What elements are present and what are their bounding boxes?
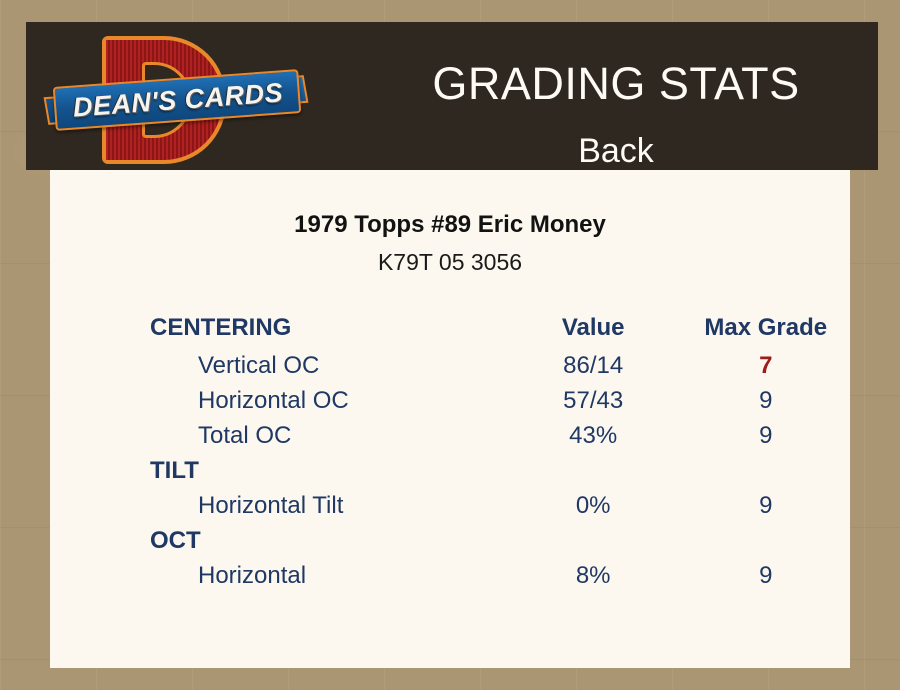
- column-header-category: CENTERING: [150, 310, 505, 348]
- stat-value: 8%: [505, 558, 682, 593]
- table-row: Total OC43%9: [150, 418, 850, 453]
- stat-label: Vertical OC: [150, 348, 505, 383]
- stat-label: Horizontal: [150, 558, 505, 593]
- stat-value: 86/14: [505, 348, 682, 383]
- stat-value: 57/43: [505, 383, 682, 418]
- stat-value: 0%: [505, 488, 682, 523]
- stat-label: Total OC: [150, 418, 505, 453]
- flagged-grade: 7: [759, 352, 772, 379]
- stat-max-grade: 9: [682, 383, 850, 418]
- table-row: Horizontal Tilt0%9: [150, 488, 850, 523]
- section-label: TILT: [150, 453, 505, 488]
- stat-label: Horizontal Tilt: [150, 488, 505, 523]
- grading-stats-table: CENTERINGValueMax GradeVertical OC86/147…: [150, 310, 850, 593]
- section-value: [505, 453, 682, 488]
- column-header-max-grade: Max Grade: [682, 310, 850, 348]
- stat-max-grade: 9: [682, 418, 850, 453]
- header-bar: DEAN'S CARDS GRADING STATS Back: [26, 22, 878, 170]
- content-panel: 1979 Topps #89 Eric Money K79T 05 3056 C…: [50, 170, 850, 668]
- section-value: [505, 523, 682, 558]
- card-serial-number: K79T 05 3056: [50, 249, 850, 276]
- table-section-row: OCT: [150, 523, 850, 558]
- table-row: Vertical OC86/147: [150, 348, 850, 383]
- table-row: Horizontal8%9: [150, 558, 850, 593]
- table-section-row: TILT: [150, 453, 850, 488]
- section-grade: [682, 523, 850, 558]
- card-title: 1979 Topps #89 Eric Money: [50, 211, 850, 239]
- stat-max-grade: 9: [682, 488, 850, 523]
- table-header-row: CENTERINGValueMax Grade: [150, 310, 850, 348]
- logo-ribbon-banner: DEAN'S CARDS: [46, 74, 308, 128]
- table-row: Horizontal OC57/439: [150, 383, 850, 418]
- stat-max-grade: 7: [682, 348, 850, 383]
- page-title: GRADING STATS: [336, 60, 896, 107]
- stat-value: 43%: [505, 418, 682, 453]
- grading-stats-page: DEAN'S CARDS GRADING STATS Back 1979 Top…: [0, 0, 900, 690]
- column-header-value: Value: [505, 310, 682, 348]
- section-label: OCT: [150, 523, 505, 558]
- page-subtitle: Back: [336, 134, 896, 170]
- section-grade: [682, 453, 850, 488]
- deans-cards-logo: DEAN'S CARDS: [46, 28, 316, 168]
- grading-stats-body: CENTERINGValueMax GradeVertical OC86/147…: [150, 310, 850, 593]
- stat-max-grade: 9: [682, 558, 850, 593]
- stat-label: Horizontal OC: [150, 383, 505, 418]
